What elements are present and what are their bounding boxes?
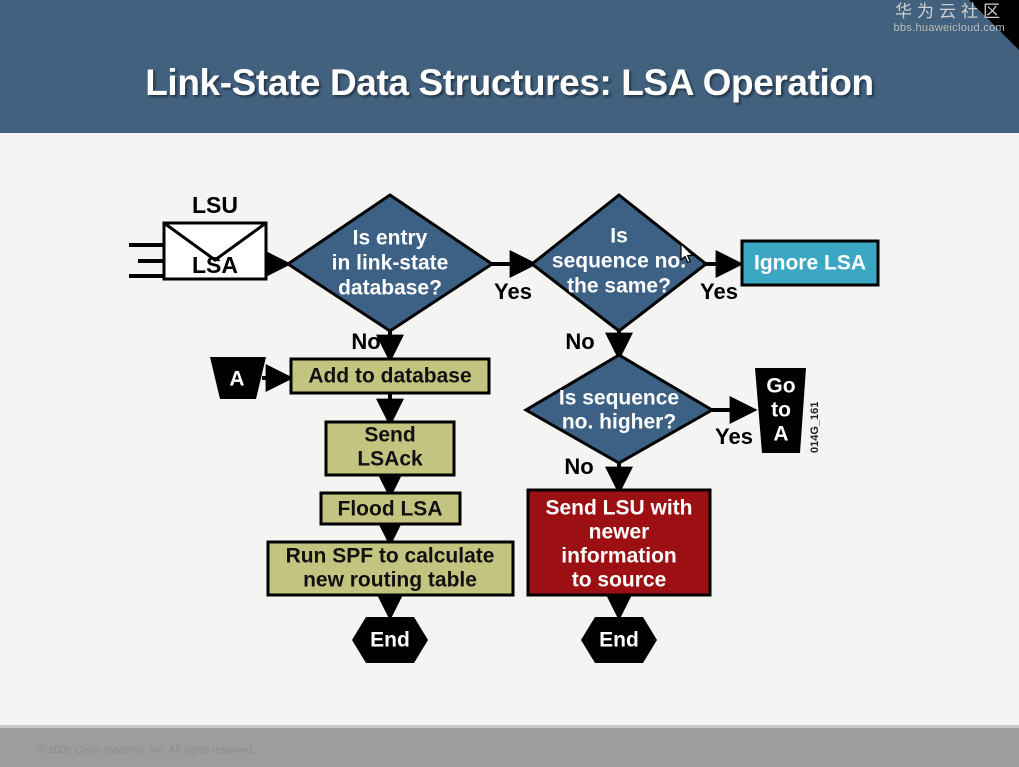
highlight-ignore-lsa[interactable]: Ignore LSA (742, 241, 878, 285)
flood-lsa-label: Flood LSA (338, 498, 443, 521)
send-lsu-line-1: Send LSU with (546, 497, 693, 520)
process-add-to-database[interactable]: Add to database (291, 359, 489, 393)
decision-1-line-3: database? (338, 277, 442, 300)
slide-header: Link-State Data Structures: LSA Operatio… (0, 0, 1019, 133)
add-to-database-label: Add to database (308, 365, 471, 388)
go-to-a-line-3: A (773, 423, 788, 446)
decision-1-line-1: Is entry (353, 227, 428, 250)
send-lsu-line-2: newer (589, 521, 650, 544)
decision-2-line-2: sequence no. (552, 250, 686, 273)
edge-label-d3-no: No (564, 454, 593, 479)
decision-is-sequence-no-the-same[interactable]: Is sequence no. the same? (532, 195, 706, 331)
ignore-lsa-label: Ignore LSA (754, 252, 866, 275)
decision-is-sequence-no-higher[interactable]: Is sequence no. higher? (526, 355, 712, 463)
run-spf-line-2: new routing table (303, 569, 477, 592)
edge-label-d1-yes: Yes (494, 279, 532, 304)
decision-3-line-1: Is sequence (559, 387, 679, 410)
slide-footer: © 2005 Cisco Systems, Inc. All rights re… (0, 725, 1019, 767)
decision-is-entry-in-link-state-database[interactable]: Is entry in link-state database? (288, 195, 492, 331)
go-to-a-line-1: Go (766, 375, 795, 398)
decision-2-line-1: Is (610, 225, 628, 248)
envelope-label-top: LSU (192, 192, 238, 218)
copyright-text: © 2005 Cisco Systems, Inc. All rights re… (38, 745, 255, 756)
process-send-lsack[interactable]: Send LSAck (326, 422, 454, 475)
decision-3-line-2: no. higher? (562, 411, 676, 434)
send-lsack-line-1: Send (364, 424, 415, 447)
watermark-url: bbs.huaweicloud.com (894, 22, 1005, 35)
edge-label-d3-yes: Yes (715, 424, 753, 449)
connector-a-inbound[interactable]: A (210, 357, 266, 399)
send-lsack-line-2: LSAck (357, 448, 423, 471)
slide-source-code: 014G_161 (809, 402, 821, 453)
run-spf-line-1: Run SPF to calculate (286, 545, 495, 568)
end-right-label: End (599, 629, 639, 652)
send-lsu-line-4: to source (572, 569, 667, 592)
watermark: 华为云社区 bbs.huaweicloud.com (894, 2, 1005, 34)
process-run-spf[interactable]: Run SPF to calculate new routing table (268, 542, 513, 595)
connector-go-to-a[interactable]: Go to A (755, 368, 806, 453)
flowchart-canvas: LSU LSA Is entry in link-state database?… (0, 133, 1019, 725)
edge-label-d1-no: No (351, 329, 380, 354)
terminator-end-right[interactable]: End (581, 617, 657, 663)
end-left-label: End (370, 629, 410, 652)
page-title: Link-State Data Structures: LSA Operatio… (0, 62, 1019, 104)
watermark-brand: 华为云社区 (894, 2, 1005, 22)
lsu-envelope-icon: LSU LSA (129, 192, 266, 279)
decision-1-line-2: in link-state (332, 252, 449, 275)
edge-label-d2-no: No (565, 329, 594, 354)
edge-label-d2-yes: Yes (700, 279, 738, 304)
envelope-label-inner: LSA (192, 252, 238, 278)
connector-a-label: A (229, 368, 244, 391)
send-lsu-line-3: information (561, 545, 677, 568)
decision-2-line-3: the same? (567, 275, 671, 298)
go-to-a-line-2: to (771, 399, 791, 422)
process-flood-lsa[interactable]: Flood LSA (321, 493, 460, 524)
slide-canvas: Link-State Data Structures: LSA Operatio… (0, 0, 1019, 767)
terminator-end-left[interactable]: End (352, 617, 428, 663)
alert-send-lsu[interactable]: Send LSU with newer information to sourc… (528, 490, 710, 595)
